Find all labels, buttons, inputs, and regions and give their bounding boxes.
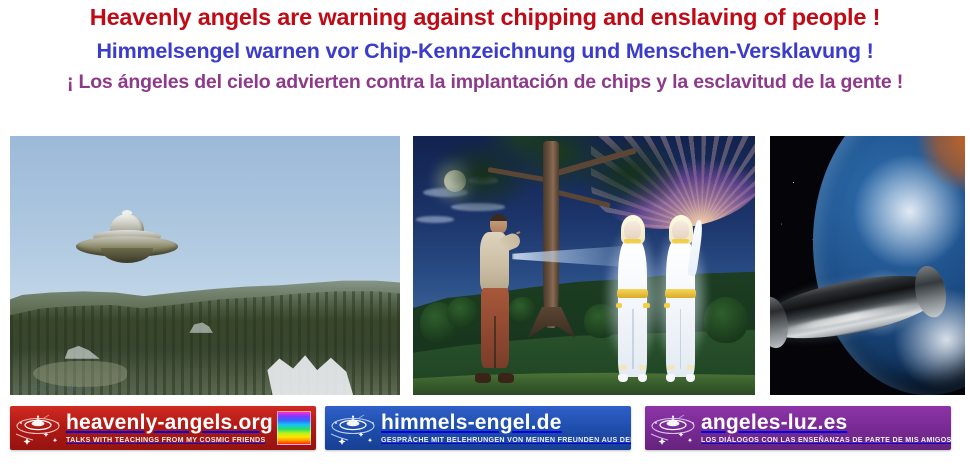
banner-link-angeles-luz-es[interactable]: angeles-luz.es LOS DIÁLOGOS CON LAS ENSE… [645,406,951,450]
banner-domain: himmels-engel.de [381,412,562,433]
banner-tagline: GESPRÄCHE MIT BELEHRUNGEN VON MEINEN FRE… [381,436,631,444]
man-leg-gap [494,316,496,367]
angel-face [624,221,641,239]
headline-german: Himmelsengel warnen vor Chip-Kennzeichnu… [0,41,970,63]
banner-link-himmels-engel-de[interactable]: himmels-engel.de GESPRÄCHE MIT BELEHRUNG… [325,406,631,450]
photo-watermark: Pic 5547 en de es [14,383,91,393]
angel-boot [686,374,695,382]
angel-wristband [616,303,623,308]
tree-trunk [543,141,559,327]
banner-text-block: himmels-engel.de GESPRÄCHE MIT BELEHRUNG… [381,412,631,443]
banner-row: heavenly-angels.org TALKS WITH TEACHINGS… [0,406,970,454]
ufo-saucer-icon [10,406,66,450]
image-strip: Pic 5547 en de es [0,136,970,395]
headline-english: Heavenly angels are warning against chip… [0,6,970,30]
angel-wristband [664,303,671,308]
headline-spanish: ¡ Los ángeles del cielo advierten contra… [0,73,970,93]
ufo-saucer-icon [645,406,701,450]
man-figure [471,214,519,380]
banner-tagline: LOS DIÁLOGOS CON LAS ENSEÑANZAS DE PARTE… [701,436,951,444]
angel-boot [618,374,627,382]
angel-collar [624,239,641,243]
angel-figure-right [659,216,702,382]
saucer-underside [101,248,154,263]
photo-angels-night-encounter [413,136,755,395]
photo-cylinder-craft-over-earth [770,136,965,395]
angel-anklet [619,365,627,370]
rainbow-swatch-icon [277,411,311,445]
banner-text-block: heavenly-angels.org TALKS WITH TEACHINGS… [66,412,277,443]
man-shoe [498,373,514,383]
angel-leg-gap [680,309,682,369]
banner-text-block: angeles-luz.es LOS DIÁLOGOS CON LAS ENSE… [701,412,951,443]
man-head [490,214,506,234]
angel-belt [665,289,696,298]
flying-saucer-icon [76,214,177,263]
angel-leg-gap [632,309,634,369]
man-shoe [475,373,491,383]
angel-face [672,221,689,239]
ufo-saucer-icon [325,406,381,450]
banner-domain: angeles-luz.es [701,412,847,433]
angel-collar [672,239,689,243]
banner-domain: heavenly-angels.org [66,412,273,433]
banner-link-heavenly-angels-org[interactable]: heavenly-angels.org TALKS WITH TEACHINGS… [10,406,316,450]
headline-block: Heavenly angels are warning against chip… [0,0,970,93]
photo-ufo-over-mountain: Pic 5547 en de es [10,136,400,395]
angel-anklet [667,365,675,370]
banner-tagline: TALKS WITH TEACHINGS FROM MY COSMIC FRIE… [66,436,266,444]
